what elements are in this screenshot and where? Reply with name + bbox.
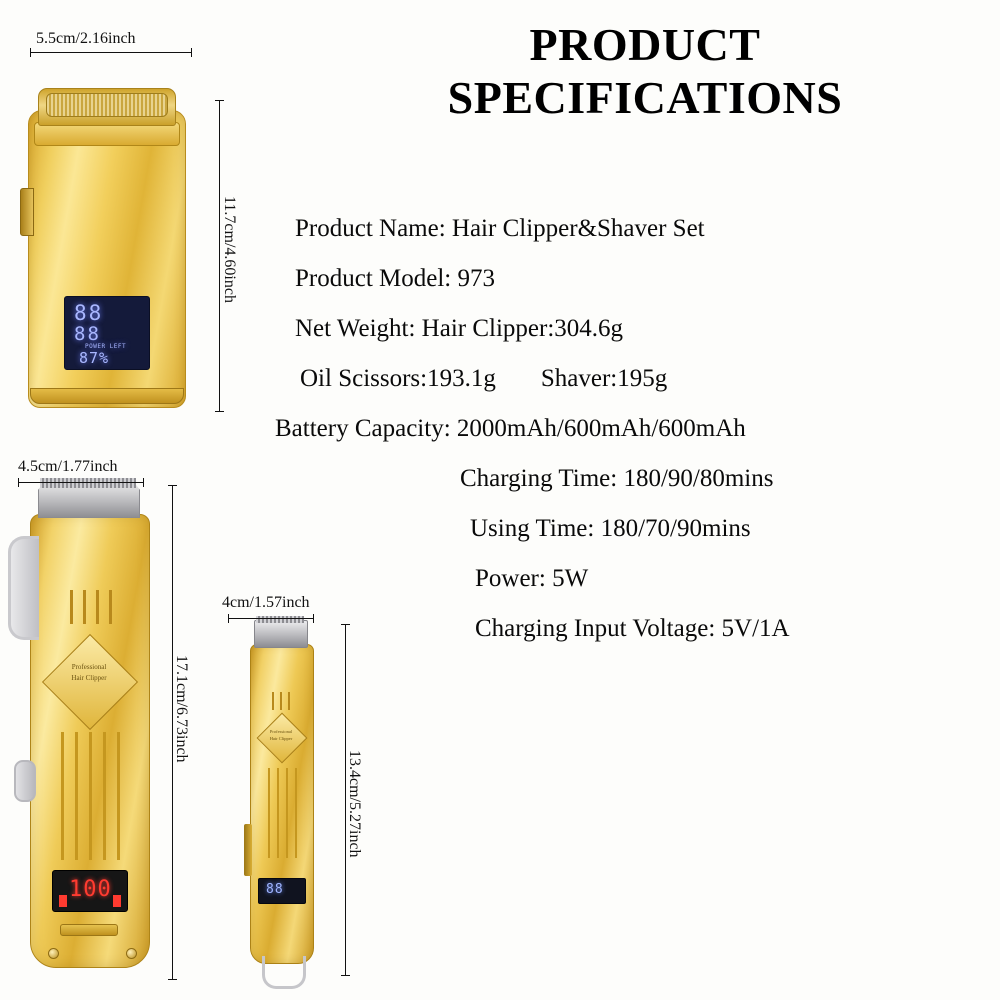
clipper-height-label: 17.1cm/6.73inch — [172, 655, 190, 763]
spec-oil-scissors: Oil Scissors:193.1g — [300, 365, 496, 392]
clipper-width-tick-left — [18, 478, 19, 487]
trimmer-badge-text: Professional Hair Clipper — [258, 728, 304, 742]
shaver-width-tick-left — [30, 48, 31, 57]
clipper-taper-lever — [8, 536, 39, 640]
title-line-1: PRODUCT — [300, 18, 990, 71]
shaver-display: 88 88 POWER LEFT 87% — [64, 296, 150, 370]
spec-battery-capacity: Battery Capacity: 2000mAh/600mAh/600mAh — [275, 415, 995, 443]
clipper-badge-line-1: Professional — [50, 662, 128, 673]
clipper-power-button — [60, 924, 118, 936]
shaver-foil — [46, 93, 168, 117]
shaver-height-label: 11.7cm/4.60inch — [220, 196, 238, 303]
clipper-grip-grooves — [50, 732, 128, 860]
page-title: PRODUCT SPECIFICATIONS — [300, 18, 990, 125]
shaver-height-tick-top — [215, 100, 224, 101]
shaver-side-button — [20, 188, 34, 236]
clipper-width-tick-right — [143, 478, 144, 487]
spec-weights-row: Oil Scissors:193.1gShaver:195g — [275, 365, 995, 393]
shaver-width-label: 5.5cm/2.16inch — [36, 30, 136, 48]
clipper-vents — [60, 590, 118, 624]
shaver-display-percent: 87% — [79, 349, 109, 367]
trimmer-height-tick-bottom — [341, 975, 350, 976]
clipper-screw-left — [48, 948, 59, 959]
trimmer-vents — [266, 692, 296, 710]
trimmer-side-button — [244, 824, 252, 876]
spec-product-name: Product Name: Hair Clipper&Shaver Set — [275, 215, 995, 243]
clipper-side-clip — [14, 760, 36, 802]
clipper-display-value: 100 — [69, 877, 112, 902]
trimmer-illustration: Professional Hair Clipper 88 — [228, 612, 338, 990]
specifications-list: Product Name: Hair Clipper&Shaver Set Pr… — [275, 215, 995, 665]
title-line-2: SPECIFICATIONS — [300, 71, 990, 124]
trimmer-display: 88 — [258, 878, 306, 904]
trimmer-width-line — [228, 618, 314, 619]
clipper-illustration: Professional Hair Clipper 100 — [8, 470, 183, 990]
trimmer-width-tick-right — [313, 614, 314, 623]
spec-power: Power: 5W — [275, 565, 995, 593]
spec-net-weight: Net Weight: Hair Clipper:304.6g — [275, 315, 995, 343]
clipper-width-line — [18, 482, 144, 483]
spec-shaver-weight: Shaver:195g — [541, 365, 667, 392]
trimmer-height-label: 13.4cm/5.27inch — [345, 750, 363, 858]
shaver-width-tick-right — [191, 48, 192, 57]
trimmer-hanging-hook — [262, 956, 306, 989]
trimmer-display-value: 88 — [266, 882, 284, 897]
clipper-screw-right — [126, 948, 137, 959]
trimmer-width-tick-left — [228, 614, 229, 623]
spec-charging-time: Charging Time: 180/90/80mins — [275, 465, 995, 493]
shaver-height-tick-bottom — [215, 411, 224, 412]
trimmer-width-label: 4cm/1.57inch — [222, 594, 310, 612]
spec-charging-voltage: Charging Input Voltage: 5V/1A — [275, 615, 995, 643]
trimmer-badge-line-1: Professional — [258, 728, 304, 735]
specification-sheet: PRODUCT SPECIFICATIONS Product Name: Hai… — [0, 0, 1000, 1000]
trimmer-blade — [254, 620, 308, 648]
clipper-display-pip-right — [113, 895, 121, 907]
trimmer-badge-line-2: Hair Clipper — [258, 735, 304, 742]
shaver-base — [30, 388, 184, 404]
spec-product-model: Product Model: 973 — [275, 265, 995, 293]
trimmer-height-tick-top — [341, 624, 350, 625]
clipper-display-pip-left — [59, 895, 67, 907]
clipper-badge-line-2: Hair Clipper — [50, 673, 128, 684]
trimmer-grip-grooves — [261, 768, 301, 858]
clipper-blade-teeth — [40, 478, 136, 488]
shaver-display-top-value: 88 — [74, 301, 103, 325]
spec-using-time: Using Time: 180/70/90mins — [275, 515, 995, 543]
shaver-display-mid-value: 88 — [74, 323, 101, 345]
shaver-width-line — [30, 52, 192, 53]
clipper-height-tick-bottom — [168, 979, 177, 980]
clipper-display: 100 — [52, 870, 128, 912]
clipper-badge-text: Professional Hair Clipper — [50, 662, 128, 683]
shaver-illustration: 88 88 POWER LEFT 87% — [20, 88, 192, 408]
clipper-width-label: 4.5cm/1.77inch — [18, 458, 118, 476]
clipper-height-tick-top — [168, 485, 177, 486]
